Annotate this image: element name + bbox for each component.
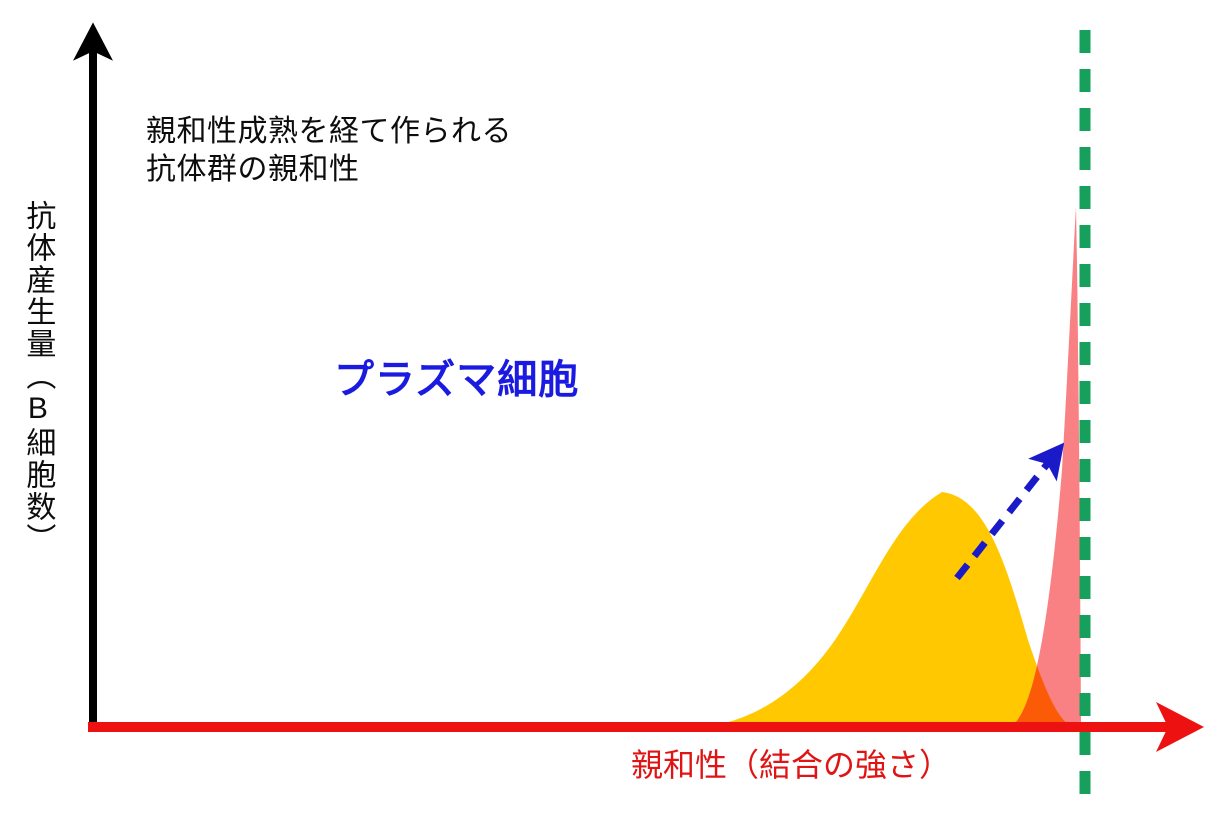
affinity-maturation-note: 親和性成熟を経て作られる 抗体群の親和性 (146, 113, 512, 190)
x-axis-label: 親和性（結合の強さ） (631, 745, 951, 786)
y-axis-label: 抗体産生量（B細胞数） (18, 200, 56, 720)
figure-canvas: 親和性成熟を経て作られる 抗体群の親和性 プラズマ細胞 親和性（結合の強さ） 抗… (0, 0, 1213, 816)
plasma-cell-label: プラズマ細胞 (334, 355, 579, 406)
yellow-distribution-curve (685, 492, 1078, 728)
